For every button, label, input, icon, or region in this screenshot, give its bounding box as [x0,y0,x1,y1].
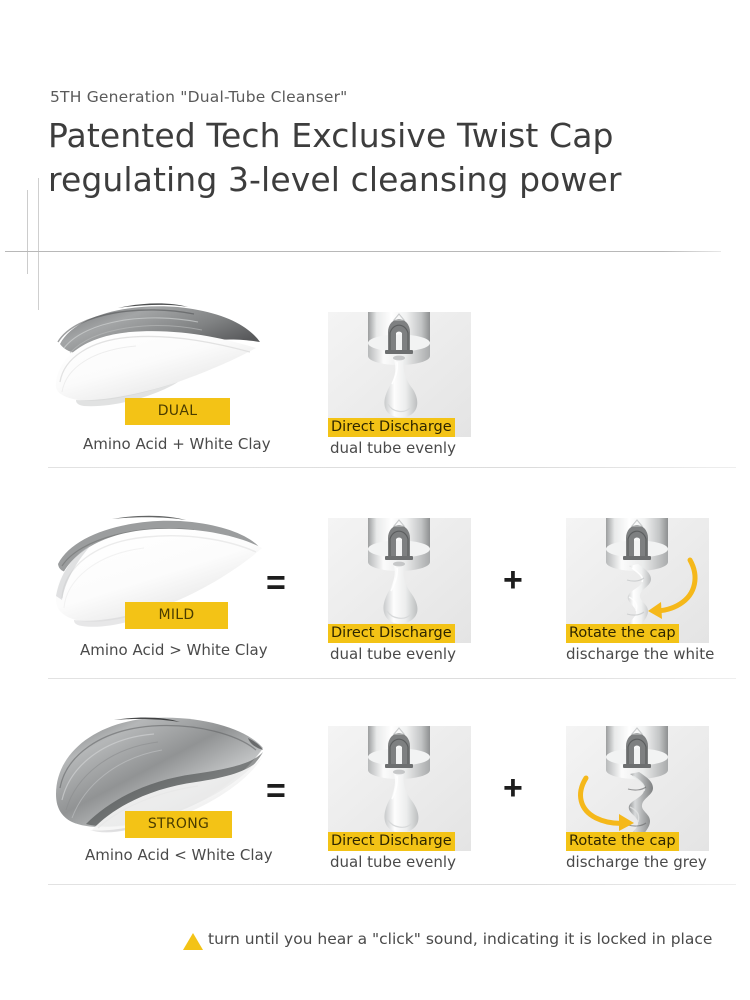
row-divider-1 [48,467,736,468]
tile-caption-rotate-cap-mild: Rotate the cap [566,624,679,643]
tile-direct-discharge-mild: Direct Discharge [328,518,471,643]
product-infographic-page: 5TH Generation "Dual-Tube Cleanser" Pate… [0,0,750,1000]
operator-equals-strong: = [266,774,286,808]
cream-swatch-strong-image [52,708,267,828]
header-divider [5,251,721,252]
swatch-strong [52,708,267,828]
tile-rotate-cap-mild: Rotate the cap [566,518,709,643]
tile-subtitle-direct-discharge-strong: dual tube evenly [330,853,456,871]
formula-dual: Amino Acid + White Clay [83,435,271,453]
tile-subtitle-direct-discharge-mild: dual tube evenly [330,645,456,663]
operator-plus-mild: + [503,563,523,597]
tile-caption-direct-discharge-strong: Direct Discharge [328,832,455,851]
formula-mild: Amino Acid > White Clay [80,641,268,659]
tile-caption-direct-discharge-dual: Direct Discharge [328,418,455,437]
tile-direct-discharge-strong: Direct Discharge [328,726,471,851]
footer-note: turn until you hear a "click" sound, ind… [208,930,712,948]
decorative-vertical-rule-short [27,190,28,274]
badge-dual: DUAL [125,398,230,425]
tile-subtitle-direct-discharge-dual: dual tube evenly [330,439,456,457]
eyebrow-text: 5TH Generation "Dual-Tube Cleanser" [50,88,348,106]
tile-subtitle-rotate-cap-mild: discharge the white [566,645,714,663]
tile-direct-discharge-dual: Direct Discharge [328,312,471,437]
tile-rotate-cap-strong: Rotate the cap [566,726,709,851]
row-divider-2 [48,678,736,679]
formula-strong: Amino Acid < White Clay [85,846,273,864]
warning-triangle-icon [183,933,203,950]
badge-mild: MILD [125,602,228,629]
operator-plus-strong: + [503,771,523,805]
page-title: Patented Tech Exclusive Twist Cap regula… [48,114,622,202]
operator-equals-mild: = [266,566,286,600]
row-divider-3 [48,884,736,885]
decorative-vertical-rule-long [38,178,39,310]
tile-caption-rotate-cap-strong: Rotate the cap [566,832,679,851]
tile-caption-direct-discharge-mild: Direct Discharge [328,624,455,643]
page-title-line1: Patented Tech Exclusive Twist Cap [48,116,614,155]
badge-strong: STRONG [125,811,232,838]
tile-subtitle-rotate-cap-strong: discharge the grey [566,853,707,871]
page-title-line2: regulating 3-level cleansing power [48,158,622,202]
